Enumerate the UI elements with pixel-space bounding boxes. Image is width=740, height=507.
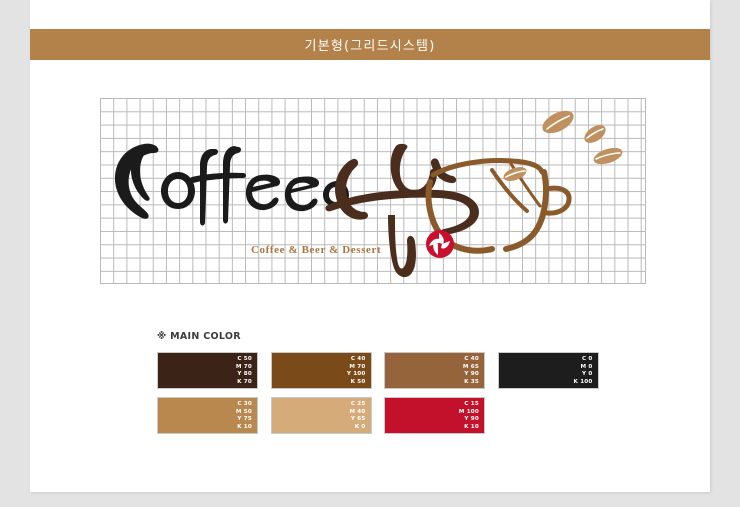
main-color-heading: ※ MAIN COLOR <box>157 331 241 342</box>
cmyk-m: M 40 <box>349 409 365 417</box>
cmyk-m: M 50 <box>236 409 252 417</box>
logo-tagline: Coffee & Beer & Dessert <box>251 244 381 256</box>
page-header-bar: 기본형(그리드시스템) <box>30 29 710 60</box>
cmyk-y: Y 80 <box>236 371 252 379</box>
cmyk-k: K 0 <box>349 424 365 432</box>
cmyk-k: K 10 <box>459 424 479 432</box>
cmyk-m: M 0 <box>574 364 593 372</box>
logo-svg <box>100 98 646 284</box>
cmyk-c: C 50 <box>236 356 252 364</box>
swatch-row-2: C 30 M 50 Y 75 K 10 C 25 M 40 Y 65 K 0 C… <box>157 397 639 434</box>
cmyk-y: Y 65 <box>349 416 365 424</box>
logo-grid-stage: Coffee & Beer & Dessert <box>100 98 646 284</box>
color-swatch-tan[interactable]: C 30 M 50 Y 75 K 10 <box>157 397 258 434</box>
page-title: 기본형(그리드시스템) <box>305 35 436 54</box>
bean-4 <box>502 164 529 183</box>
cmyk-c: C 25 <box>349 401 365 409</box>
cmyk-k: K 100 <box>574 379 593 387</box>
color-swatch-light-brown[interactable]: C 40 M 65 Y 90 K 35 <box>384 352 485 389</box>
color-swatch-black[interactable]: C 0 M 0 Y 0 K 100 <box>498 352 599 389</box>
color-swatch-medium-brown[interactable]: C 40 M 70 Y 100 K 50 <box>271 352 372 389</box>
color-swatch-crimson[interactable]: C 15 M 100 Y 90 K 10 <box>384 397 485 434</box>
color-swatch-beige[interactable]: C 25 M 40 Y 65 K 0 <box>271 397 372 434</box>
cmyk-c: C 40 <box>347 356 366 364</box>
cmyk-y: Y 90 <box>459 416 479 424</box>
brand-emblem <box>426 230 454 258</box>
cmyk-values: C 15 M 100 Y 90 K 10 <box>459 401 479 431</box>
bean-3 <box>592 145 625 168</box>
cmyk-c: C 30 <box>236 401 252 409</box>
color-swatch-dark-brown[interactable]: C 50 M 70 Y 80 K 70 <box>157 352 258 389</box>
cmyk-m: M 70 <box>236 364 252 372</box>
cmyk-y: Y 0 <box>574 371 593 379</box>
cmyk-m: M 70 <box>347 364 366 372</box>
document-page: 기본형(그리드시스템) <box>30 0 710 492</box>
cmyk-m: M 100 <box>459 409 479 417</box>
cmyk-y: Y 75 <box>236 416 252 424</box>
cmyk-m: M 65 <box>463 364 479 372</box>
bean-2 <box>581 121 609 146</box>
logo-artwork <box>100 98 646 284</box>
main-color-swatch-grid: C 50 M 70 Y 80 K 70 C 40 M 70 Y 100 K 50… <box>157 352 639 442</box>
cmyk-values: C 40 M 65 Y 90 K 35 <box>463 356 479 386</box>
cmyk-k: K 70 <box>236 379 252 387</box>
cmyk-values: C 30 M 50 Y 75 K 10 <box>236 401 252 431</box>
wordmark-coffee <box>115 144 349 226</box>
cmyk-values: C 50 M 70 Y 80 K 70 <box>236 356 252 386</box>
cmyk-k: K 35 <box>463 379 479 387</box>
cmyk-y: Y 90 <box>463 371 479 379</box>
cmyk-c: C 15 <box>459 401 479 409</box>
cmyk-values: C 25 M 40 Y 65 K 0 <box>349 401 365 431</box>
cmyk-values: C 40 M 70 Y 100 K 50 <box>347 356 366 386</box>
cmyk-k: K 10 <box>236 424 252 432</box>
swatch-placeholder-empty <box>498 397 599 434</box>
cmyk-c: C 40 <box>463 356 479 364</box>
cmyk-k: K 50 <box>347 379 366 387</box>
cmyk-values: C 0 M 0 Y 0 K 100 <box>574 356 593 386</box>
cmyk-y: Y 100 <box>347 371 366 379</box>
swatch-row-1: C 50 M 70 Y 80 K 70 C 40 M 70 Y 100 K 50… <box>157 352 639 389</box>
cmyk-c: C 0 <box>574 356 593 364</box>
